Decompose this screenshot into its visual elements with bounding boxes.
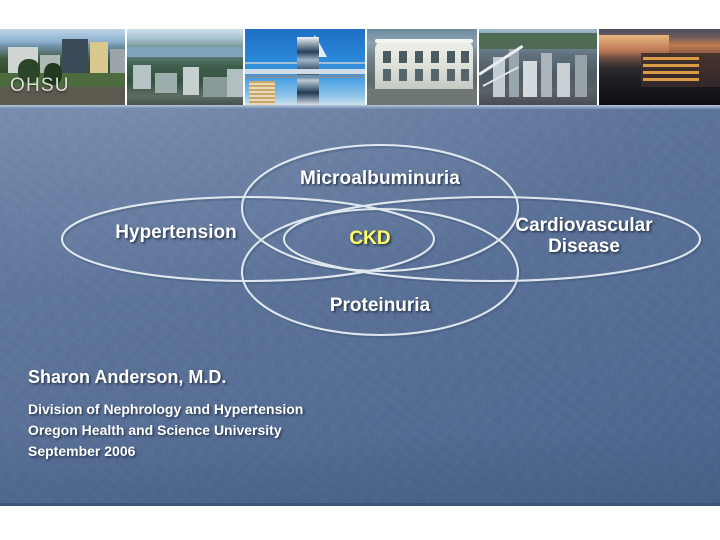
presenter-institution: Oregon Health and Science University bbox=[28, 420, 528, 441]
venn-label-proteinuria: Proteinuria bbox=[268, 295, 492, 316]
presentation-date: September 2006 bbox=[28, 441, 528, 462]
slide-canvas: OHSU bbox=[0, 0, 720, 540]
byline-block: Sharon Anderson, M.D. Division of Nephro… bbox=[28, 368, 528, 463]
banner-top-margin bbox=[0, 0, 720, 29]
slide-footer-margin bbox=[0, 506, 720, 540]
banner-panel-aerial-green-city bbox=[127, 29, 245, 105]
presenter-division: Division of Nephrology and Hypertension bbox=[28, 399, 528, 420]
venn-label-cvd-line2: Disease bbox=[548, 236, 620, 257]
venn-diagram: Microalbuminuria Proteinuria Hypertensio… bbox=[0, 110, 720, 355]
banner-panel-tram-bridge bbox=[245, 29, 367, 105]
banner-panel-dusk-building bbox=[599, 29, 720, 105]
venn-label-ckd: CKD bbox=[300, 228, 440, 249]
venn-label-cvd-line1: Cardiovascular bbox=[515, 215, 652, 236]
banner-underline bbox=[0, 105, 720, 109]
header-photo-banner: OHSU bbox=[0, 29, 720, 105]
banner-panel-stone-building bbox=[367, 29, 479, 105]
venn-label-cardiovascular-disease: Cardiovascular Disease bbox=[470, 215, 698, 258]
venn-label-hypertension: Hypertension bbox=[62, 222, 290, 243]
banner-panel-downtown-aerial bbox=[479, 29, 599, 105]
banner-panel-campus-lawn: OHSU bbox=[0, 29, 127, 105]
presenter-name: Sharon Anderson, M.D. bbox=[28, 368, 528, 388]
venn-label-microalbuminuria: Microalbuminuria bbox=[246, 168, 514, 189]
ohsu-logo: OHSU bbox=[10, 76, 70, 95]
